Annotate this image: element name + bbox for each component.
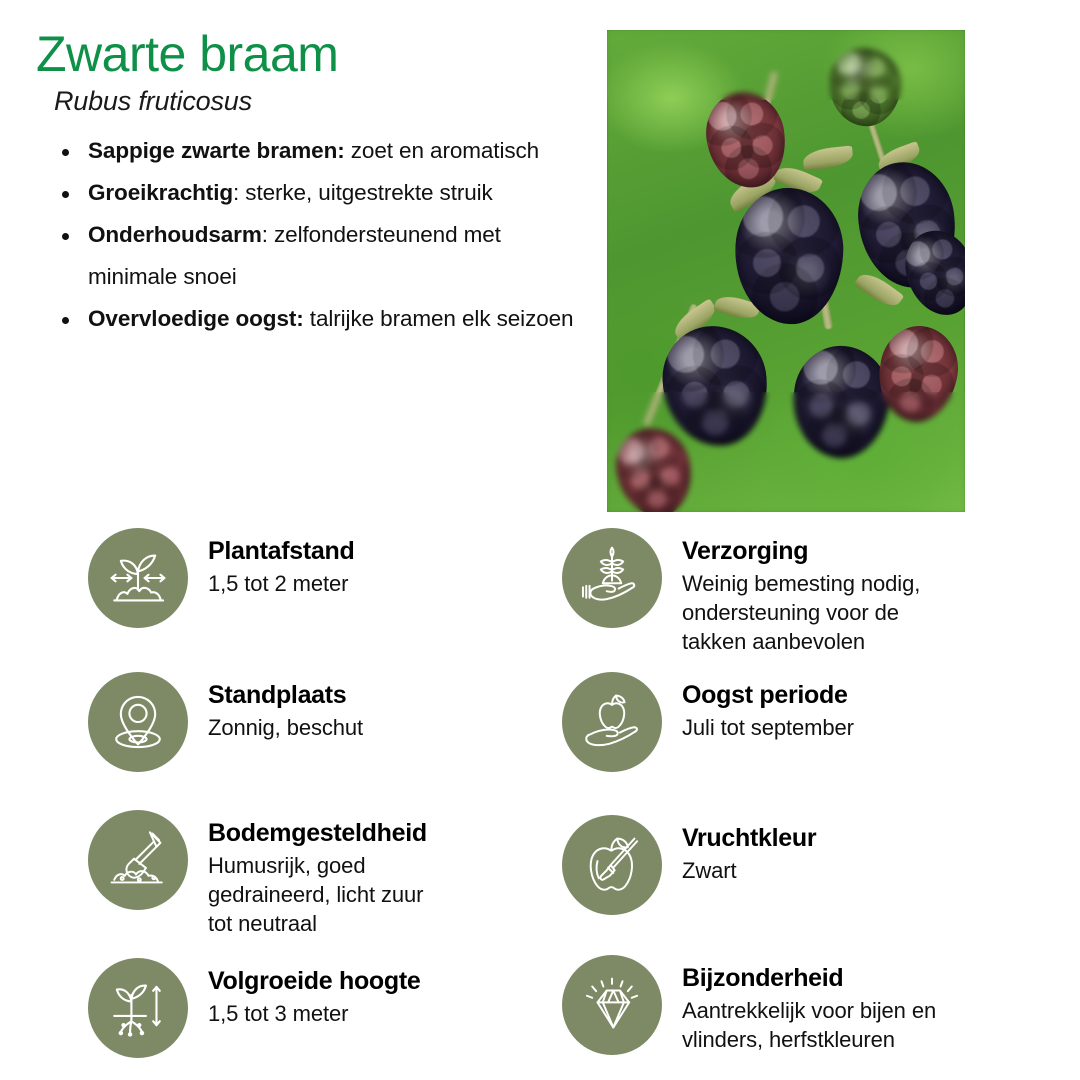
photo-depth-blur-bottom bbox=[607, 392, 965, 512]
bullet-rest: zoet en aromatisch bbox=[345, 138, 539, 163]
spec-value: Zwart bbox=[682, 856, 816, 885]
spec-row-bijzonderheid: Bijzonderheid Aantrekkelijk voor bijen e… bbox=[562, 955, 1032, 1055]
spec-title: Verzorging bbox=[682, 538, 920, 566]
spec-text: Standplaats Zonnig, beschut bbox=[208, 672, 363, 742]
spec-title: Bijzonderheid bbox=[682, 965, 936, 993]
feature-bullet-list: Sappige zwarte bramen: zoet en aromatisc… bbox=[54, 130, 584, 340]
hand-sprout-icon bbox=[562, 528, 662, 628]
spec-text: Bodemgesteldheid Humusrijk, goed gedrain… bbox=[208, 810, 427, 938]
spec-title: Vruchtkleur bbox=[682, 825, 816, 853]
spec-text: Bijzonderheid Aantrekkelijk voor bijen e… bbox=[682, 955, 936, 1054]
plant-spacing-icon bbox=[88, 528, 188, 628]
bullet-rest: : sterke, uitgestrekte struik bbox=[233, 180, 493, 205]
hand-apple-icon bbox=[562, 672, 662, 772]
spec-title: Oogst periode bbox=[682, 682, 854, 710]
list-item: Onderhoudsarm: zelfondersteunend met min… bbox=[54, 214, 584, 298]
bullet-lead: Groeikrachtig bbox=[88, 180, 233, 205]
photo-depth-blur-top bbox=[607, 30, 965, 100]
spec-title: Volgroeide hoogte bbox=[208, 968, 421, 996]
spec-row-oogst-periode: Oogst periode Juli tot september bbox=[562, 672, 1032, 772]
bullet-lead: Sappige zwarte bramen: bbox=[88, 138, 345, 163]
spec-value: Juli tot september bbox=[682, 713, 854, 742]
plant-height-icon bbox=[88, 958, 188, 1058]
spec-text: Oogst periode Juli tot september bbox=[682, 672, 854, 742]
spec-title: Bodemgesteldheid bbox=[208, 820, 427, 848]
spec-text: Plantafstand 1,5 tot 2 meter bbox=[208, 528, 354, 598]
spec-title: Plantafstand bbox=[208, 538, 354, 566]
spec-row-bodemgesteldheid: Bodemgesteldheid Humusrijk, goed gedrain… bbox=[88, 810, 558, 938]
spec-title: Standplaats bbox=[208, 682, 363, 710]
latin-name-subtitle: Rubus fruticosus bbox=[54, 86, 596, 117]
spec-value: 1,5 tot 3 meter bbox=[208, 999, 421, 1028]
diamond-sparkle-icon bbox=[562, 955, 662, 1055]
spec-value: Humusrijk, goed gedraineerd, licht zuur … bbox=[208, 851, 427, 938]
spec-value: 1,5 tot 2 meter bbox=[208, 569, 354, 598]
spec-row-verzorging: Verzorging Weinig bemesting nodig, onder… bbox=[562, 528, 1032, 656]
spec-row-standplaats: Standplaats Zonnig, beschut bbox=[88, 672, 558, 772]
spec-value: Zonnig, beschut bbox=[208, 713, 363, 742]
apple-paintbrush-icon bbox=[562, 815, 662, 915]
spec-text: Verzorging Weinig bemesting nodig, onder… bbox=[682, 528, 920, 656]
bullet-rest: talrijke bramen elk seizoen bbox=[304, 306, 574, 331]
spec-row-plantafstand: Plantafstand 1,5 tot 2 meter bbox=[88, 528, 558, 628]
bullet-lead: Overvloedige oogst: bbox=[88, 306, 304, 331]
spec-row-vruchtkleur: Vruchtkleur Zwart bbox=[562, 815, 1032, 915]
list-item: Groeikrachtig: sterke, uitgestrekte stru… bbox=[54, 172, 584, 214]
spec-value: Aantrekkelijk voor bijen en vlinders, he… bbox=[682, 996, 936, 1054]
list-item: Sappige zwarte bramen: zoet en aromatisc… bbox=[54, 130, 584, 172]
spec-value: Weinig bemesting nodig, ondersteuning vo… bbox=[682, 569, 920, 656]
bullet-lead: Onderhoudsarm bbox=[88, 222, 262, 247]
blackberry-photo bbox=[607, 30, 965, 512]
page-title: Zwarte braam bbox=[36, 28, 596, 80]
location-pin-icon bbox=[88, 672, 188, 772]
shovel-soil-icon bbox=[88, 810, 188, 910]
spec-text: Volgroeide hoogte 1,5 tot 3 meter bbox=[208, 958, 421, 1028]
list-item: Overvloedige oogst: talrijke bramen elk … bbox=[54, 298, 584, 340]
spec-row-volgroeide-hoogte: Volgroeide hoogte 1,5 tot 3 meter bbox=[88, 958, 558, 1058]
spec-text: Vruchtkleur Zwart bbox=[682, 815, 816, 885]
header-block: Zwarte braam Rubus fruticosus bbox=[36, 28, 596, 117]
